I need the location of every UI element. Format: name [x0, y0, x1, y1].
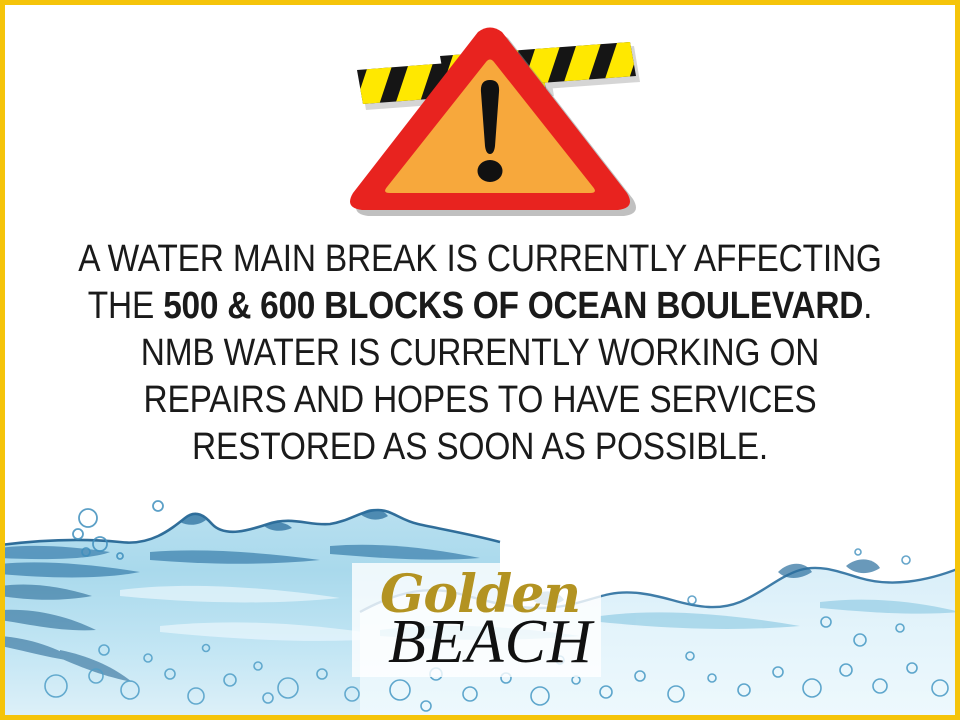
- exclamation-dot-icon: [478, 160, 503, 182]
- alert-line-1: A WATER MAIN BREAK IS CURRENTLY AFFECTIN…: [58, 236, 903, 283]
- alert-line-3-text: NMB WATER IS CURRENTLY WORKING ON: [141, 332, 820, 374]
- golden-beach-logo: Golden BEACH: [352, 563, 601, 677]
- alert-line-2-suffix: .: [863, 285, 872, 327]
- logo-word-beach: BEACH: [388, 611, 593, 673]
- alert-line-3: NMB WATER IS CURRENTLY WORKING ON: [58, 330, 903, 377]
- alert-line-2-prefix: THE: [88, 285, 163, 327]
- alert-line-4: REPAIRS AND HOPES TO HAVE SERVICES: [58, 377, 903, 424]
- alert-line-4-text: REPAIRS AND HOPES TO HAVE SERVICES: [144, 379, 817, 421]
- alert-graphic-canvas: A WATER MAIN BREAK IS CURRENTLY AFFECTIN…: [0, 0, 960, 720]
- alert-line-5: RESTORED AS SOON AS POSSIBLE.: [58, 424, 903, 471]
- warning-triangle-icon: [340, 18, 640, 218]
- alert-line-2: THE 500 & 600 BLOCKS OF OCEAN BOULEVARD.: [58, 283, 903, 330]
- alert-message: A WATER MAIN BREAK IS CURRENTLY AFFECTIN…: [58, 236, 903, 471]
- alert-line-2-emphasis: 500 & 600 BLOCKS OF OCEAN BOULEVARD: [163, 285, 863, 327]
- alert-line-1-text: A WATER MAIN BREAK IS CURRENTLY AFFECTIN…: [78, 238, 882, 280]
- alert-line-5-text: RESTORED AS SOON AS POSSIBLE.: [192, 426, 768, 468]
